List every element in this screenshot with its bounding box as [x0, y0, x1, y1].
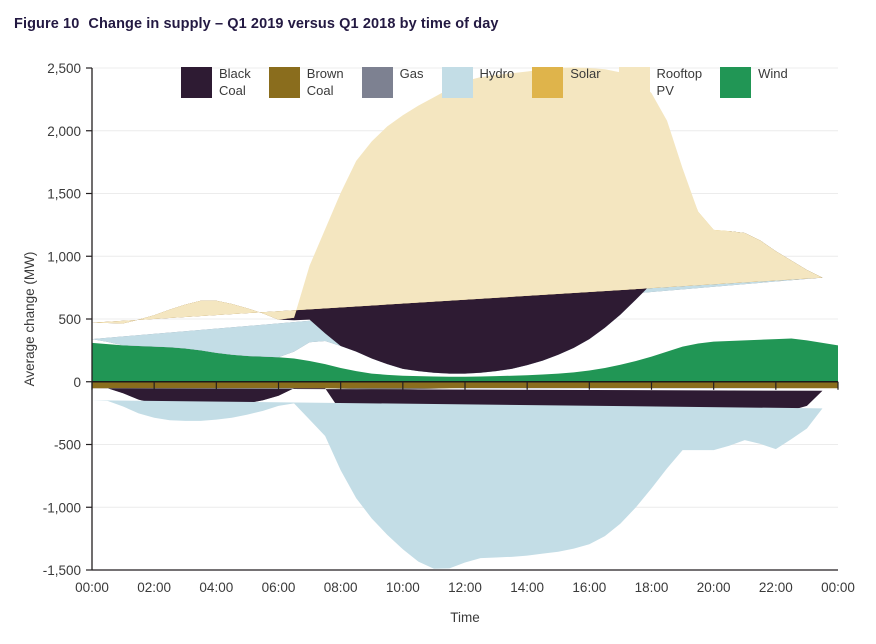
y-tick-label: 500	[58, 312, 81, 327]
x-axis-title: Time	[450, 610, 480, 625]
x-tick-label: 06:00	[262, 580, 296, 595]
area-hydro-negative	[92, 400, 822, 569]
x-tick-label: 00:00	[821, 580, 855, 595]
legend-item-black: BlackCoal	[181, 66, 251, 99]
x-tick-label: 12:00	[448, 580, 482, 595]
y-axis-title: Average change (MW)	[22, 252, 37, 387]
x-tick-label: 10:00	[386, 580, 420, 595]
x-tick-label: 16:00	[572, 580, 606, 595]
legend-label: Gas	[400, 66, 424, 83]
y-tick-label: -1,000	[43, 500, 81, 515]
legend-label: Hydro	[480, 66, 515, 83]
legend-item-rooftop: RooftopPV	[619, 66, 703, 99]
y-tick-label: 1,500	[47, 187, 81, 202]
legend-item-solar: Solar	[532, 66, 600, 98]
legend-label: Solar	[570, 66, 600, 83]
legend-swatch-icon	[181, 67, 212, 98]
legend-label: Wind	[758, 66, 788, 83]
y-tick-label: 2,500	[47, 61, 81, 76]
legend-swatch-icon	[362, 67, 393, 98]
x-tick-label: 18:00	[635, 580, 669, 595]
legend-item-wind: Wind	[720, 66, 788, 98]
legend-swatch-icon	[619, 67, 650, 98]
x-tick-label: 22:00	[759, 580, 793, 595]
y-tick-label: -1,500	[43, 563, 81, 578]
x-tick-label: 08:00	[324, 580, 358, 595]
legend-item-hydro: Hydro	[442, 66, 515, 98]
legend-item-gas: Gas	[362, 66, 424, 98]
legend-item-brown: BrownCoal	[269, 66, 344, 99]
chart-legend: BlackCoalBrownCoalGasHydroSolarRooftopPV…	[181, 66, 806, 99]
x-tick-label: 00:00	[75, 580, 109, 595]
legend-swatch-icon	[442, 67, 473, 98]
legend-swatch-icon	[532, 67, 563, 98]
x-tick-label: 02:00	[137, 580, 171, 595]
y-tick-label: 2,000	[47, 124, 81, 139]
y-tick-label: 1,000	[47, 249, 81, 264]
figure-page: Figure 10Change in supply – Q1 2019 vers…	[0, 0, 876, 644]
x-tick-label: 20:00	[697, 580, 731, 595]
x-tick-label: 14:00	[510, 580, 544, 595]
y-tick-label: -500	[54, 438, 81, 453]
legend-swatch-icon	[269, 67, 300, 98]
legend-label: RooftopPV	[657, 66, 703, 99]
x-tick-label: 04:00	[199, 580, 233, 595]
legend-swatch-icon	[720, 67, 751, 98]
y-tick-label: 0	[73, 375, 81, 390]
legend-label: BrownCoal	[307, 66, 344, 99]
legend-label: BlackCoal	[219, 66, 251, 99]
